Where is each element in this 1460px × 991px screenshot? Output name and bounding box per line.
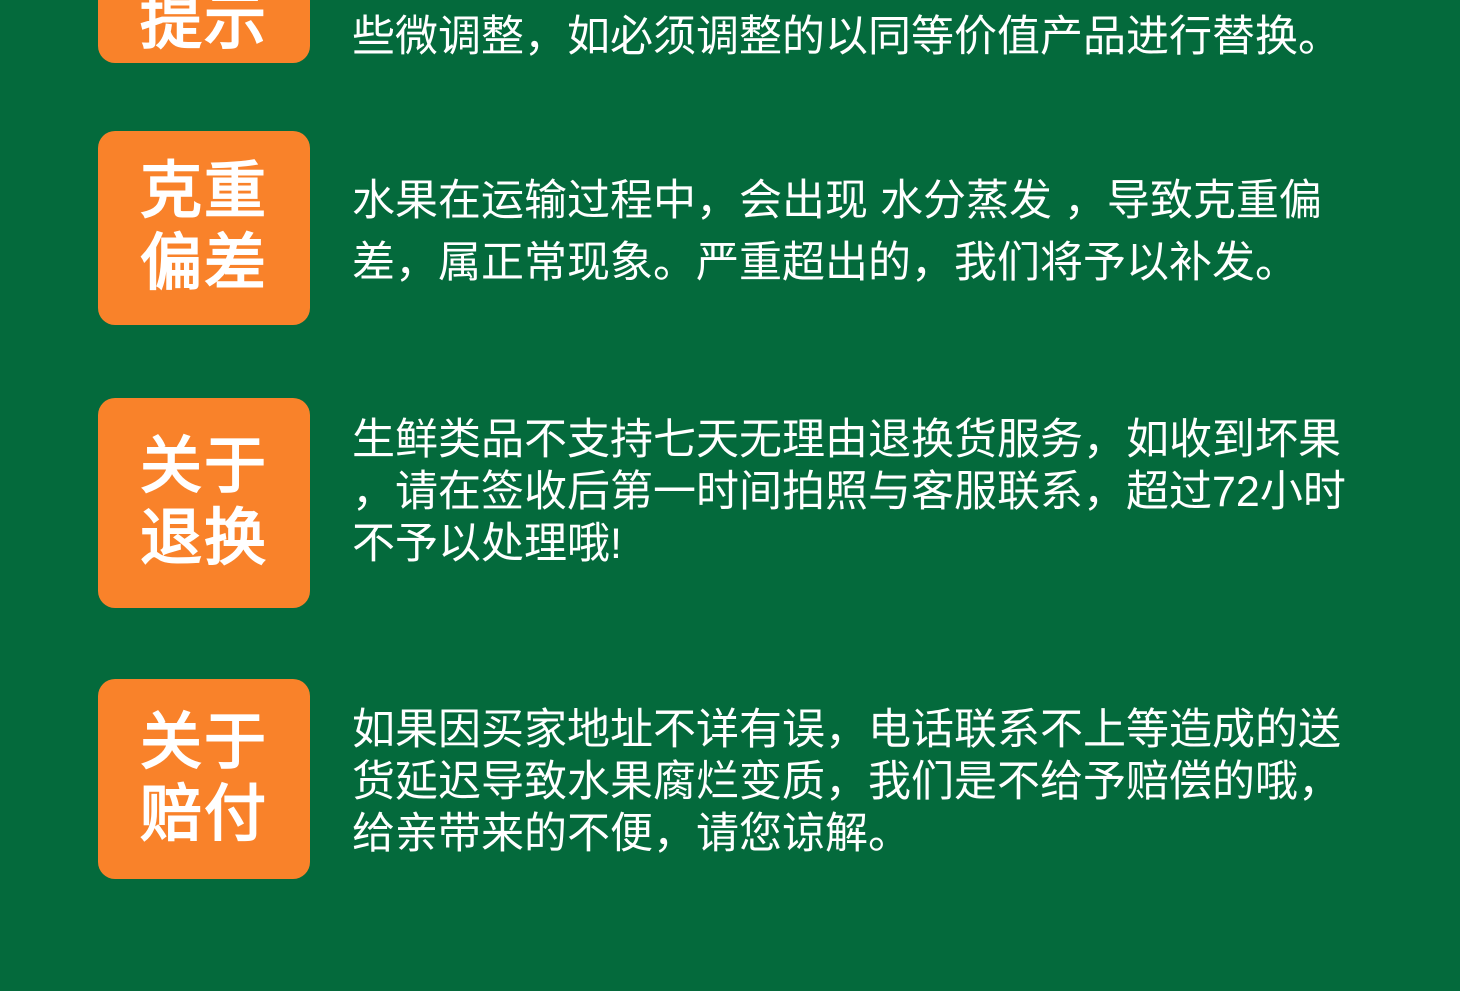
body-compensation-line-3: 给亲带来的不便，请您谅解。 [352,808,1352,860]
badge-tip: 提示 [98,0,310,63]
body-returns-exchanges-line-3: 不予以处理哦! [352,518,1352,570]
section-tip: 提示 些微调整，如必须调整的以同等价值产品进行替换。 [0,0,1460,120]
body-weight-deviation-line-1: 水果在运输过程中，会出现 水分蒸发 ，导致克重偏 [352,170,1352,232]
body-text-tip: 些微调整，如必须调整的以同等价值产品进行替换。 [352,8,1352,66]
badge-weight-deviation: 克重 偏差 [98,131,310,325]
body-text-compensation: 如果因买家地址不详有误，电话联系不上等造成的送 货延迟导致水果腐烂变质，我们是不… [352,704,1352,860]
badge-weight-deviation-line-2: 偏差 [140,228,268,300]
body-returns-exchanges-line-2: ，请在签收后第一时间拍照与客服联系，超过72小时 [352,466,1352,518]
body-tip-line-1: 些微调整，如必须调整的以同等价值产品进行替换。 [352,8,1352,66]
badge-returns-exchanges-line-2: 退换 [140,503,268,575]
body-text-returns-exchanges: 生鲜类品不支持七天无理由退换货服务，如收到坏果 ，请在签收后第一时间拍照与客服联… [352,414,1352,570]
body-compensation-line-1: 如果因买家地址不详有误，电话联系不上等造成的送 [352,704,1352,756]
body-weight-deviation-line-2: 差，属正常现象。严重超出的，我们将予以补发。 [352,232,1352,294]
badge-compensation-line-2: 赔付 [140,779,268,851]
badge-tip-line-1: 提示 [140,0,268,59]
badge-compensation-line-1: 关于 [140,707,268,779]
after-sales-info-page: 提示 些微调整，如必须调整的以同等价值产品进行替换。 克重 偏差 水果在运输过程… [0,0,1460,991]
body-text-weight-deviation: 水果在运输过程中，会出现 水分蒸发 ，导致克重偏 差，属正常现象。严重超出的，我… [352,170,1352,294]
body-compensation-line-2: 货延迟导致水果腐烂变质，我们是不给予赔偿的哦， [352,756,1352,808]
body-returns-exchanges-line-1: 生鲜类品不支持七天无理由退换货服务，如收到坏果 [352,414,1352,466]
badge-returns-exchanges: 关于 退换 [98,398,310,608]
badge-compensation: 关于 赔付 [98,679,310,879]
badge-weight-deviation-line-1: 克重 [140,156,268,228]
badge-returns-exchanges-line-1: 关于 [140,431,268,503]
